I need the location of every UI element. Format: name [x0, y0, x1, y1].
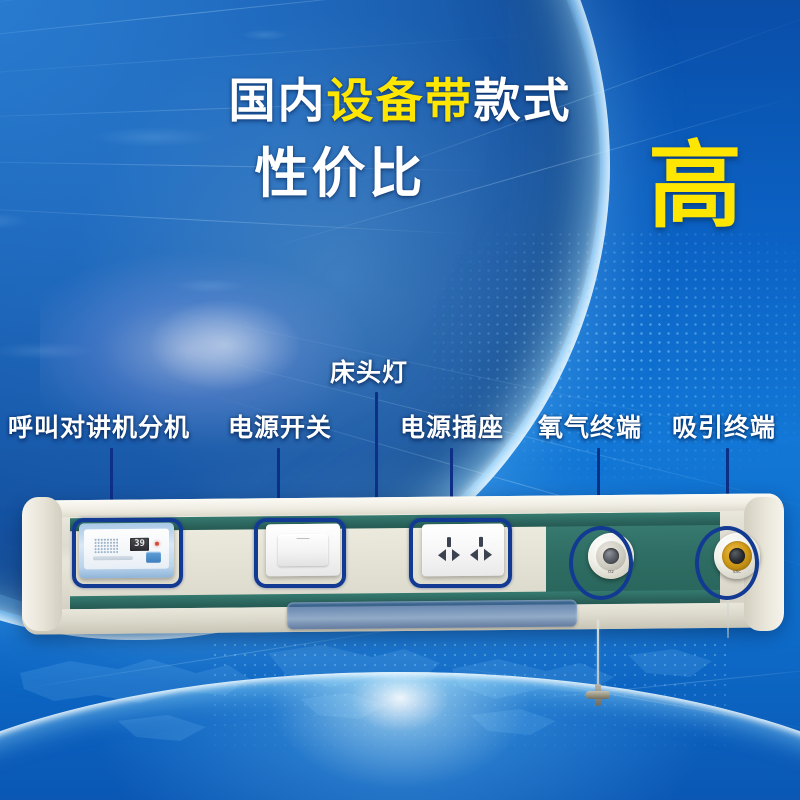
oxygen-hose-cable [597, 620, 599, 692]
highlight-box-power-socket [409, 518, 512, 588]
callout-label-power-socket: 电源插座 [400, 415, 504, 440]
bedside-lamp-strip[interactable] [287, 600, 577, 630]
callout-label-bedside-lamp: 床头灯 [330, 360, 408, 385]
poster-canvas: 国内设备带款式 性价比 高 呼叫对讲机分机 电源开关 床头灯 电源插座 氧气终端… [0, 0, 800, 800]
callout-label-intercom: 呼叫对讲机分机 [8, 415, 190, 440]
connector-cross [586, 691, 610, 699]
hose-connector-fitting [586, 684, 610, 706]
highlight-circle-suction [695, 526, 759, 600]
panel-end-cap-left [22, 497, 62, 631]
suction-hose-cable [727, 600, 729, 638]
highlight-circle-oxygen [569, 526, 633, 600]
highlight-box-power-switch [254, 518, 346, 588]
highlight-box-intercom [72, 518, 183, 588]
halftone-dot-field [430, 230, 800, 480]
callout-label-power-switch: 电源开关 [228, 415, 332, 440]
callout-label-oxygen-terminal: 氧气终端 [538, 415, 642, 440]
callout-label-suction-terminal: 吸引终端 [672, 415, 776, 440]
headline-emphasis-high: 高 [648, 140, 742, 234]
